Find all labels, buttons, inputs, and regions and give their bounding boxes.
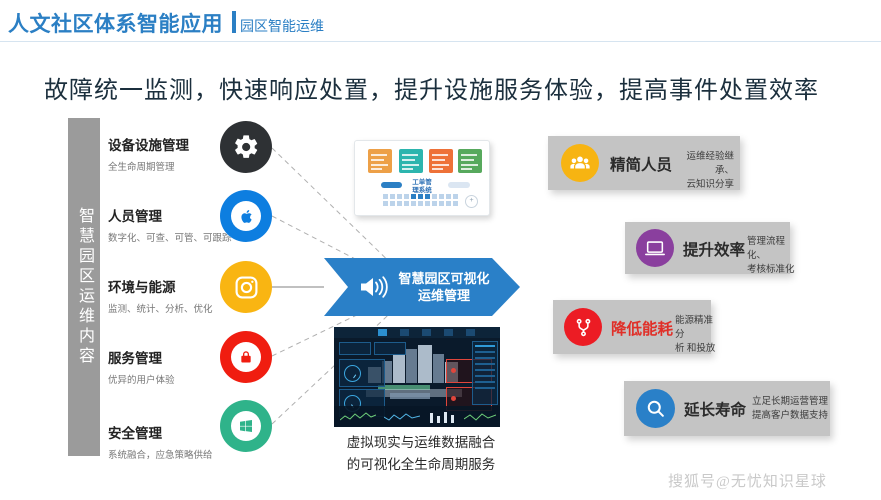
list-item-personnel[interactable]: 人员管理 数字化、可查、可管、可跟踪 xyxy=(108,205,232,244)
lock-icon[interactable] xyxy=(220,331,272,383)
mock-card-green xyxy=(458,149,482,173)
benefit-card-title: 提升效率 xyxy=(683,238,745,260)
benefit-card-subtitle-line2: 云知识分享 xyxy=(678,178,734,192)
benefit-card-staff[interactable]: 精简人员 运维经验继承、 云知识分享 xyxy=(548,136,740,190)
mock-label: 工单管 理系统 xyxy=(400,179,444,195)
users-icon xyxy=(561,144,599,182)
benefit-card-subtitle-line1: 立足长期运营管理 xyxy=(752,395,828,409)
slide-root: 人文社区体系智能应用 园区智能运维 故障统一监测，快速响应处置，提升设施服务体验… xyxy=(0,0,881,500)
vr-sparkline-3 xyxy=(464,411,496,423)
header-main-title: 人文社区体系智能应用 xyxy=(8,8,223,38)
list-item-title: 人员管理 xyxy=(108,205,232,225)
benefit-card-subtitle-line1: 能源精准分 xyxy=(675,314,721,342)
mock-plus-icon: + xyxy=(465,195,478,208)
benefit-card-subtitle-line2: 考核标准化 xyxy=(747,263,795,277)
benefit-card-lifespan[interactable]: 延长寿命 立足长期运营管理 提高客户数据支持 xyxy=(624,381,830,436)
mock-card-teal xyxy=(399,149,423,173)
list-item-title: 安全管理 xyxy=(108,422,213,442)
list-item-subtitle: 监测、统计、分析、优化 xyxy=(108,301,213,315)
list-item-subtitle: 数字化、可查、可管、可跟踪 xyxy=(108,230,232,244)
center-arrow-banner: 智慧园区可视化 运维管理 xyxy=(324,258,520,316)
list-item-environment[interactable]: 环境与能源 监测、统计、分析、优化 xyxy=(108,276,213,315)
benefit-card-title: 精简人员 xyxy=(610,153,672,175)
list-item-title: 服务管理 xyxy=(108,347,175,367)
vr-dashboard-image xyxy=(334,327,500,427)
speaker-icon xyxy=(358,273,388,306)
windows-icon[interactable] xyxy=(220,400,272,452)
benefit-card-subtitle: 运维经验继承、 云知识分享 xyxy=(678,150,734,192)
watermark: 搜狐号@无忧知识星球 xyxy=(668,470,827,491)
arrow-tip xyxy=(492,258,520,316)
ticket-system-mockup: 工单管 理系统 + xyxy=(354,140,490,216)
vr-topbar xyxy=(334,327,500,338)
benefit-card-subtitle: 管理流程化、 考核标准化 xyxy=(747,235,795,277)
list-item-subtitle: 系统融合，应急策略供给 xyxy=(108,447,213,461)
list-item-equipment[interactable]: 设备设施管理 全生命周期管理 xyxy=(108,134,189,173)
search-icon xyxy=(636,389,675,428)
list-item-security[interactable]: 安全管理 系统融合，应急策略供给 xyxy=(108,422,213,461)
page-title: 故障统一监测，快速响应处置，提升设施服务体验，提高事件处置效率 xyxy=(44,70,819,105)
mock-card-red xyxy=(429,149,453,173)
vr-side-list xyxy=(472,341,498,405)
arrow-notch xyxy=(324,258,348,316)
list-item-subtitle: 全生命周期管理 xyxy=(108,159,189,173)
vr-sparkline-2 xyxy=(384,411,420,423)
benefit-card-subtitle-line2: 析 和投放 xyxy=(675,342,721,356)
header-divider-bar xyxy=(232,11,236,33)
apple-icon[interactable] xyxy=(220,190,272,242)
benefit-card-efficiency[interactable]: 提升效率 管理流程化、 考核标准化 xyxy=(625,222,790,274)
left-vertical-label: 智慧园区运维内容 xyxy=(68,118,100,456)
header-sub-title: 园区智能运维 xyxy=(240,16,324,36)
vr-caption: 虚拟现实与运维数据融合 的可视化全生命周期服务 xyxy=(326,432,516,476)
arrow-label-line2: 运维管理 xyxy=(394,287,494,304)
vr-caption-line1: 虚拟现实与运维数据融合 xyxy=(326,432,516,454)
mock-label-line1: 工单管 xyxy=(412,179,432,186)
slide-header: 人文社区体系智能应用 园区智能运维 xyxy=(0,0,881,42)
list-item-service[interactable]: 服务管理 优异的用户体验 xyxy=(108,347,175,386)
vr-panel-left-1 xyxy=(339,359,385,387)
benefit-card-subtitle: 能源精准分 析 和投放 xyxy=(675,314,721,356)
vr-sparkline-1 xyxy=(340,411,376,423)
header-rule xyxy=(0,41,881,42)
gear-icon[interactable] xyxy=(220,121,272,173)
benefit-card-subtitle-line1: 运维经验继承、 xyxy=(678,150,734,178)
list-item-title: 设备设施管理 xyxy=(108,134,189,154)
camera-icon[interactable] xyxy=(220,261,272,313)
mock-pill-2 xyxy=(448,182,470,188)
list-item-title: 环境与能源 xyxy=(108,276,213,296)
mock-card-orange xyxy=(368,149,392,173)
benefit-card-subtitle-line2: 提高客户数据支持 xyxy=(752,409,828,423)
branch-icon xyxy=(564,308,602,346)
benefit-card-title: 延长寿命 xyxy=(684,398,746,420)
arrow-label: 智慧园区可视化 运维管理 xyxy=(394,270,494,304)
mock-pill-1 xyxy=(381,182,402,188)
benefit-card-energy[interactable]: 降低能耗 能源精准分 析 和投放 xyxy=(553,300,711,354)
laptop-icon xyxy=(636,229,674,267)
vr-caption-line2: 的可视化全生命周期服务 xyxy=(326,454,516,476)
mock-label-line2: 理系统 xyxy=(412,187,432,194)
benefit-card-title: 降低能耗 xyxy=(611,317,673,339)
mock-grid xyxy=(383,194,459,208)
list-item-subtitle: 优异的用户体验 xyxy=(108,372,175,386)
arrow-label-line1: 智慧园区可视化 xyxy=(394,270,494,287)
benefit-card-subtitle: 立足长期运营管理 提高客户数据支持 xyxy=(752,395,828,423)
benefit-card-subtitle-line1: 管理流程化、 xyxy=(747,235,795,263)
